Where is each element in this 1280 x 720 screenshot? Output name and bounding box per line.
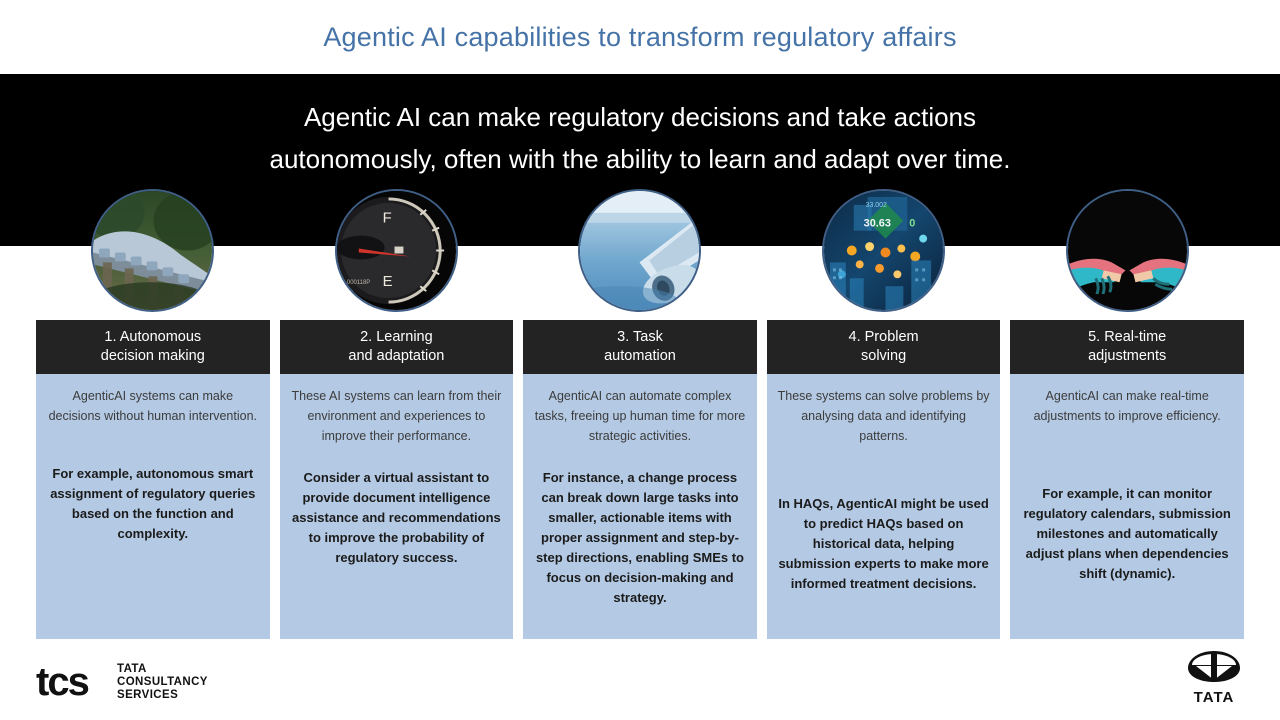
card-3-body: AgenticAI can automate complex tasks, fr… (523, 374, 757, 639)
card-1-title-line-1: 1. Autonomous (104, 328, 201, 347)
card-4-body: These systems can solve problems by anal… (767, 374, 1001, 639)
card-5-title-line-1: 5. Real-time (1088, 328, 1166, 347)
card-1-title-line-2: decision making (101, 347, 205, 366)
svg-text:33.002: 33.002 (866, 202, 887, 209)
card-1-example: For example, autonomous smart assignment… (46, 464, 260, 544)
two-hands-touching-photo (1066, 189, 1189, 312)
card-3-example: For instance, a change process can break… (533, 468, 747, 608)
svg-text:000118P: 000118P (347, 280, 370, 286)
capability-cards-row: 1. Autonomous decision making AgenticAI … (36, 189, 1244, 639)
card-3-title-line-1: 3. Task (617, 328, 663, 347)
tata-logo-word: TATA (1186, 689, 1242, 706)
capability-card-1[interactable]: 1. Autonomous decision making AgenticAI … (36, 189, 270, 639)
card-1-body: AgenticAI systems can make decisions wit… (36, 374, 270, 639)
capability-card-3[interactable]: 3. Task automation AgenticAI can automat… (523, 189, 757, 639)
card-5-example: For example, it can monitor regulatory c… (1020, 484, 1234, 584)
capability-card-4[interactable]: 30.63 0 33.002 (767, 189, 1001, 639)
card-2-title-line-2: and adaptation (348, 347, 444, 366)
capability-card-5[interactable]: 5. Real-time adjustments AgenticAI can m… (1010, 189, 1244, 639)
train-on-viaduct-photo (91, 189, 214, 312)
card-1-header: 1. Autonomous decision making (36, 320, 270, 374)
capability-card-2[interactable]: F E 000118P 2. Learning and adaptation T… (280, 189, 514, 639)
card-5-photo-wrap (1010, 189, 1244, 320)
card-1-photo-wrap (36, 189, 270, 320)
card-2-example: Consider a virtual assistant to provide … (290, 468, 504, 568)
svg-text:E: E (383, 274, 393, 290)
tcs-logo-line-3: SERVICES (117, 689, 208, 702)
page-title: Agentic AI capabilities to transform reg… (0, 0, 1280, 74)
card-4-title-line-1: 4. Problem (849, 328, 919, 347)
card-3-description: AgenticAI can automate complex tasks, fr… (533, 386, 747, 446)
card-3-title-line-2: automation (604, 347, 676, 366)
headline-line-1: Agentic AI can make regulatory decisions… (110, 96, 1170, 138)
card-5-description: AgenticAI can make real-time adjustments… (1020, 386, 1234, 426)
card-4-example: In HAQs, AgenticAI might be used to pred… (777, 494, 991, 594)
card-4-title-line-2: solving (861, 347, 906, 366)
svg-text:0: 0 (909, 218, 915, 230)
card-3-header: 3. Task automation (523, 320, 757, 374)
tcs-logo: tcs TATA CONSULTANCY SERVICES (36, 662, 208, 702)
card-2-body: These AI systems can learn from their en… (280, 374, 514, 639)
card-4-photo-wrap: 30.63 0 33.002 (767, 189, 1001, 320)
tcs-logo-words: TATA CONSULTANCY SERVICES (117, 663, 208, 702)
stock-ticker-city-photo: 30.63 0 33.002 (822, 189, 945, 312)
card-2-photo-wrap: F E 000118P (280, 189, 514, 320)
tcs-logo-line-1: TATA (117, 663, 208, 676)
headline-line-2: autonomously, often with the ability to … (110, 138, 1170, 180)
tata-logo: TATA (1186, 649, 1242, 706)
card-3-photo-wrap (523, 189, 757, 320)
svg-text:30.63: 30.63 (864, 218, 891, 230)
svg-text:tcs: tcs (36, 662, 89, 702)
card-4-header: 4. Problem solving (767, 320, 1001, 374)
tata-emblem-icon (1186, 649, 1242, 683)
airplane-wing-photo (578, 189, 701, 312)
card-4-description: These systems can solve problems by anal… (777, 386, 991, 446)
card-2-title-line-1: 2. Learning (360, 328, 433, 347)
card-5-header: 5. Real-time adjustments (1010, 320, 1244, 374)
card-2-header: 2. Learning and adaptation (280, 320, 514, 374)
tcs-logo-line-2: CONSULTANCY (117, 676, 208, 689)
card-2-description: These AI systems can learn from their en… (290, 386, 504, 446)
card-1-description: AgenticAI systems can make decisions wit… (46, 386, 260, 426)
card-5-title-line-2: adjustments (1088, 347, 1166, 366)
fuel-gauge-photo: F E 000118P (335, 189, 458, 312)
tcs-wordmark-icon: tcs (36, 662, 108, 702)
card-5-body: AgenticAI can make real-time adjustments… (1010, 374, 1244, 639)
headline-text: Agentic AI can make regulatory decisions… (0, 96, 1280, 180)
svg-text:F: F (383, 211, 392, 227)
